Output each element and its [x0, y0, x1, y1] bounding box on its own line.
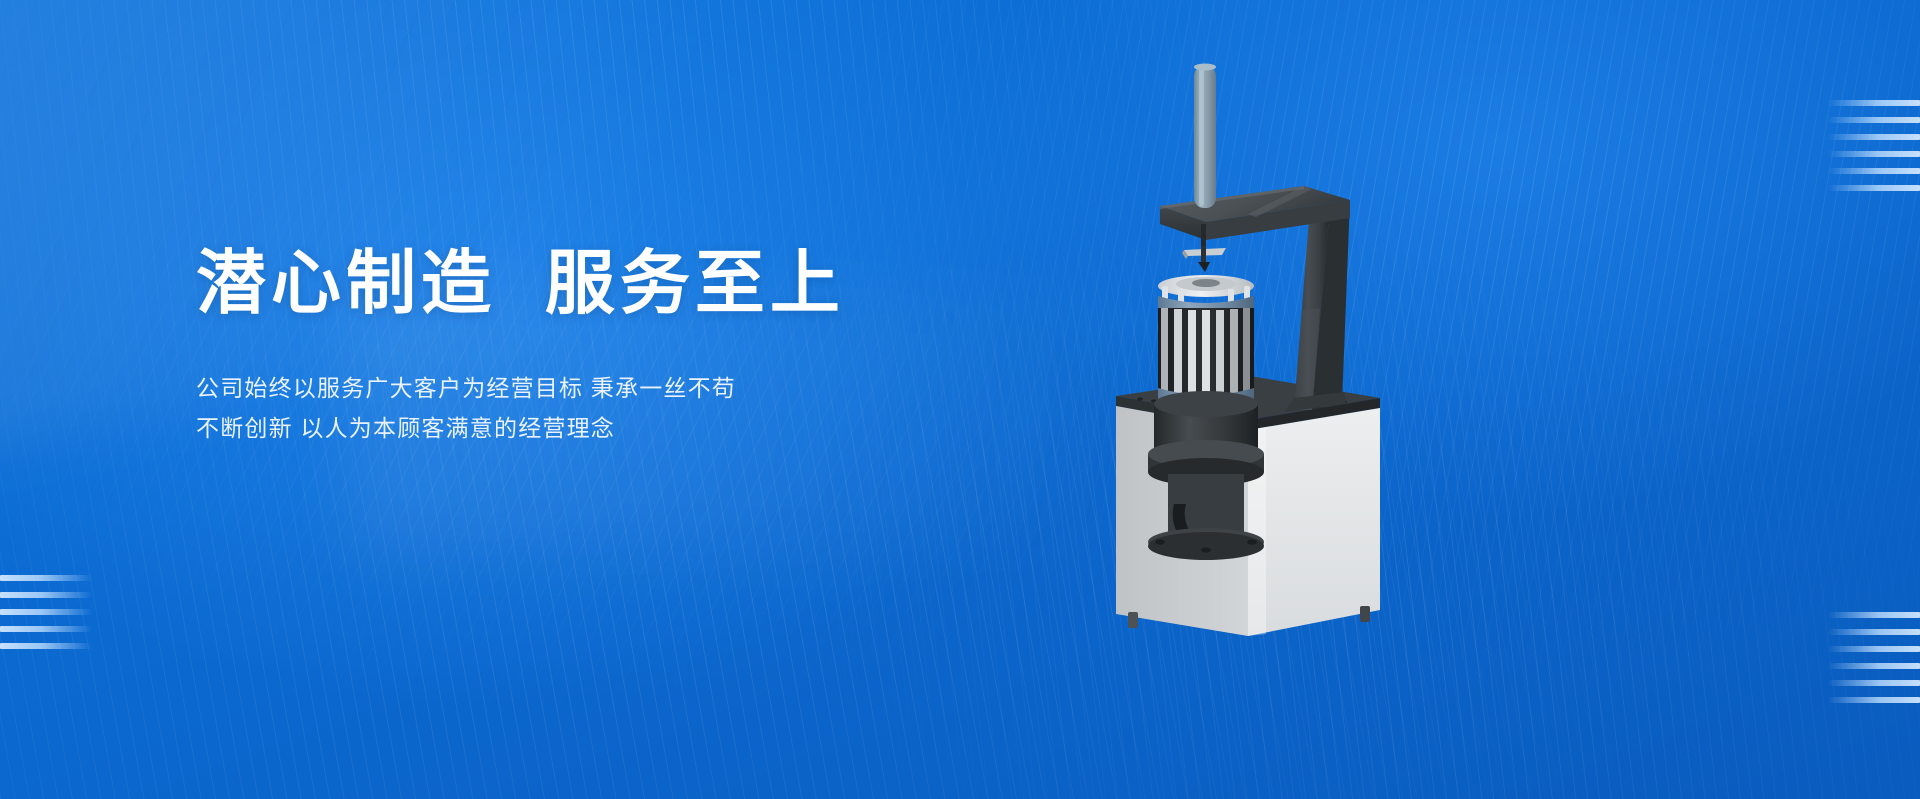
- hero-subtitle: 公司始终以服务广大客户为经营目标 秉承一丝不苟 不断创新 以人为本顾客满意的经营…: [196, 368, 956, 448]
- decor-bars-right-top: [1828, 100, 1920, 191]
- decor-bar: [1828, 185, 1920, 191]
- machine-support-column: [1284, 200, 1350, 412]
- decor-bar: [0, 592, 92, 598]
- decor-bar: [1828, 134, 1920, 140]
- rotor-ribs: [1161, 308, 1250, 397]
- decor-bars-left-bottom: [0, 575, 92, 649]
- decor-bar: [0, 643, 92, 649]
- product-machine-image: [1098, 58, 1398, 648]
- decor-bar: [1828, 151, 1920, 157]
- decor-bars-right-bottom: [1828, 612, 1920, 703]
- decor-bar: [0, 575, 92, 581]
- decor-bar: [1828, 100, 1920, 106]
- decor-bar: [1828, 697, 1920, 703]
- hero-subtitle-line-2: 不断创新 以人为本顾客满意的经营理念: [196, 408, 956, 448]
- decor-bar: [0, 626, 92, 632]
- decor-bar: [1828, 680, 1920, 686]
- decor-bar: [0, 609, 92, 615]
- decor-bar: [1828, 629, 1920, 635]
- hero-banner: 潜心制造 服务至上 公司始终以服务广大客户为经营目标 秉承一丝不苟 不断创新 以…: [0, 0, 1920, 799]
- decor-bar: [1828, 663, 1920, 669]
- machine-spindle-rod: [1194, 64, 1216, 209]
- hero-headline: 潜心制造 服务至上: [196, 246, 956, 320]
- decor-bar: [1828, 612, 1920, 618]
- decor-bar: [1828, 646, 1920, 652]
- hero-copy: 潜心制造 服务至上 公司始终以服务广大客户为经营目标 秉承一丝不苟 不断创新 以…: [196, 246, 956, 448]
- decor-bar: [1828, 117, 1920, 123]
- hero-subtitle-line-1: 公司始终以服务广大客户为经营目标 秉承一丝不苟: [196, 368, 956, 408]
- decor-bar: [1828, 168, 1920, 174]
